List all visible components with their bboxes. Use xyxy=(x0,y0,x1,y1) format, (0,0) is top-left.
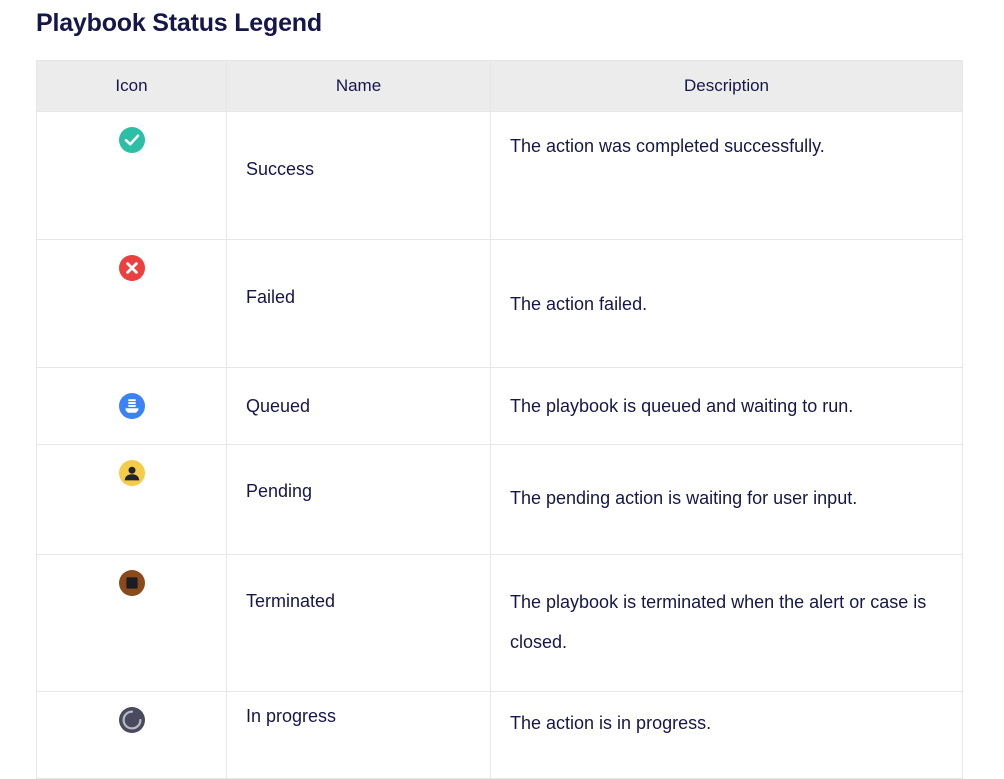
table-row: Failed The action failed. xyxy=(37,240,963,368)
status-description-cell: The action failed. xyxy=(491,240,963,368)
table-body: Success The action was completed success… xyxy=(37,112,963,779)
success-check-circle-icon xyxy=(118,126,146,154)
table-header: Icon Name Description xyxy=(37,61,963,112)
table-row: Pending The pending action is waiting fo… xyxy=(37,445,963,555)
column-header-description: Description xyxy=(491,61,963,112)
queued-stack-circle-icon xyxy=(118,392,146,420)
terminated-stop-square-circle-icon xyxy=(118,569,146,597)
page-title: Playbook Status Legend xyxy=(36,8,322,38)
column-header-icon: Icon xyxy=(37,61,227,112)
status-icon-cell xyxy=(37,555,227,692)
status-name-cell: Queued xyxy=(227,368,491,445)
status-name-cell: Pending xyxy=(227,445,491,555)
status-name-cell: Terminated xyxy=(227,555,491,692)
status-icon-cell xyxy=(37,445,227,555)
table-row: In progress The action is in progress. xyxy=(37,692,963,779)
playbook-status-legend-table: Icon Name Description Success The action… xyxy=(36,60,963,779)
status-description-cell: The playbook is queued and waiting to ru… xyxy=(491,368,963,445)
pending-user-circle-icon xyxy=(118,459,146,487)
table-row: Success The action was completed success… xyxy=(37,112,963,240)
status-icon-cell xyxy=(37,240,227,368)
status-icon-cell xyxy=(37,368,227,445)
table-row: Terminated The playbook is terminated wh… xyxy=(37,555,963,692)
failed-x-circle-icon xyxy=(118,254,146,282)
status-description-cell: The pending action is waiting for user i… xyxy=(491,445,963,555)
status-description-cell: The playbook is terminated when the aler… xyxy=(491,555,963,692)
status-icon-cell xyxy=(37,692,227,779)
status-icon-cell xyxy=(37,112,227,240)
in-progress-spinner-circle-icon xyxy=(118,706,146,734)
status-description-cell: The action was completed successfully. xyxy=(491,112,963,240)
table-header-row: Icon Name Description xyxy=(37,61,963,112)
status-description-cell: The action is in progress. xyxy=(491,692,963,779)
legend-page: Playbook Status Legend Icon Name Descrip… xyxy=(0,0,1004,656)
status-name-cell: In progress xyxy=(227,692,491,779)
status-name-cell: Failed xyxy=(227,240,491,368)
column-header-name: Name xyxy=(227,61,491,112)
status-name-cell: Success xyxy=(227,112,491,240)
table-row: Queued The playbook is queued and waitin… xyxy=(37,368,963,445)
